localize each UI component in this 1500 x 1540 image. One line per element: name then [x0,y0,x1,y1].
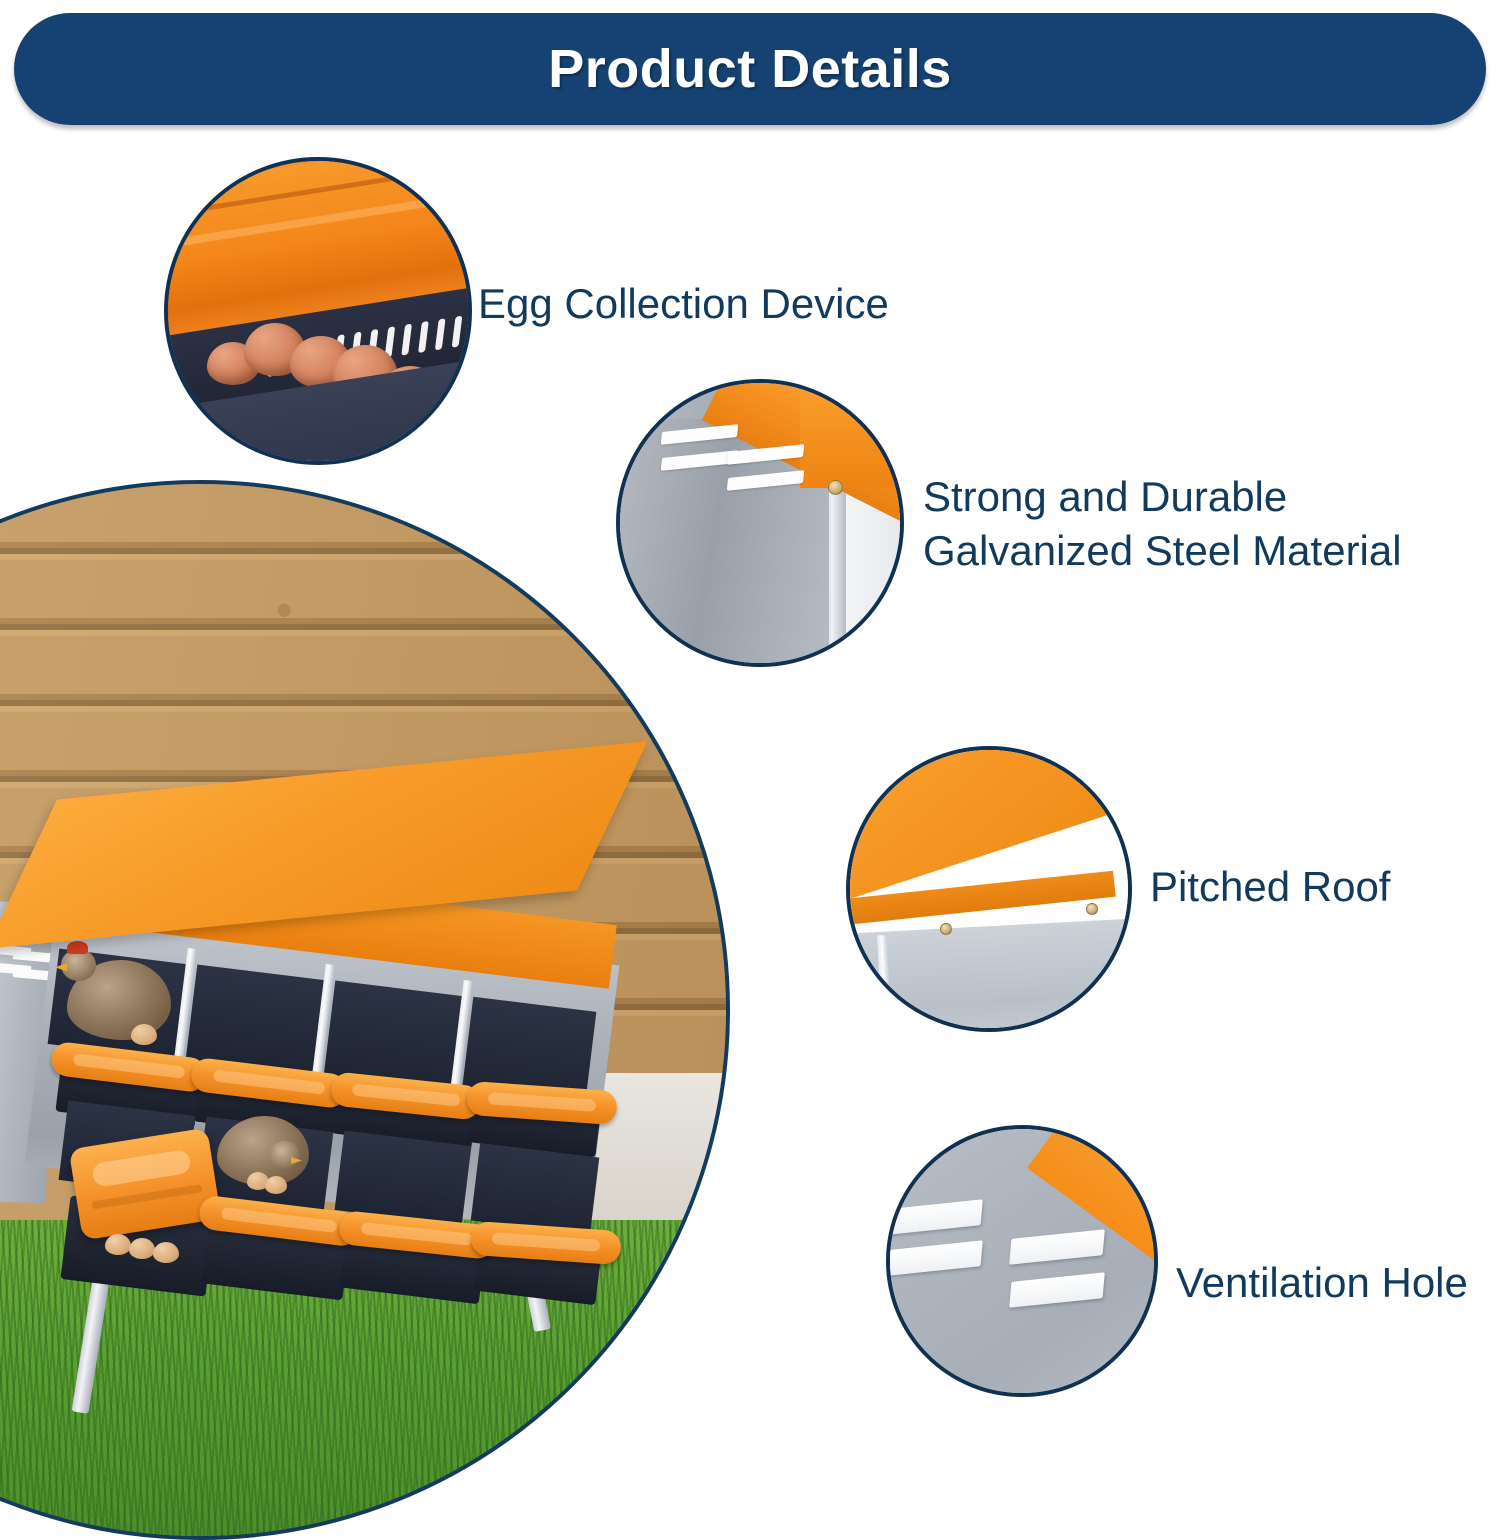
callout-image-egg-collection-device [164,157,472,465]
callout-label-line-2: Galvanized Steel Material [923,527,1402,574]
callout-label-line-1: Strong and Durable [923,473,1287,520]
callout-image-ventilation-hole [886,1125,1158,1397]
main-product-photo [0,480,730,1540]
page-title: Product Details [14,13,1486,125]
nesting-box-product [19,734,659,1374]
egg [129,1238,155,1259]
hen [67,960,171,1040]
hen-head [269,1141,300,1169]
callout-label-pitched-roof: Pitched Roof [1150,860,1390,914]
egg [105,1234,131,1255]
callout-label-egg-collection-device: Egg Collection Device [478,277,889,331]
product-details-banner: Product Details [14,13,1486,125]
egg [131,1024,157,1045]
lid-rib [91,1184,203,1209]
roof-face-orange [800,402,904,488]
callout-label-galvanized-steel: Strong and DurableGalvanized Steel Mater… [923,470,1402,578]
lid-handle-slot [91,1149,192,1188]
egg [265,1176,287,1194]
callout-image-pitched-roof [846,746,1132,1032]
egg [153,1242,179,1263]
roof-screw [828,480,843,495]
callout-label-ventilation-hole: Ventilation Hole [1176,1256,1468,1310]
hen-comb [67,941,88,954]
